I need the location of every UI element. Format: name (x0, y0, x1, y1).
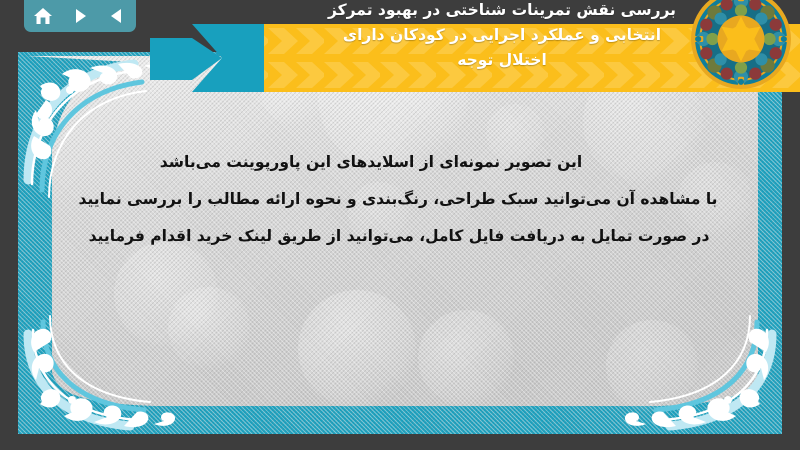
mandala-medallion-icon (690, 0, 792, 90)
previous-button[interactable] (104, 4, 130, 28)
navigation-bar[interactable] (24, 0, 136, 32)
ribbon-tail-shape (150, 24, 268, 92)
slide-canvas: این تصویر نمونه‌ای از اسلایدهای این پاور… (0, 0, 800, 450)
body-line-2: با مشاهده آن می‌توانید سبک طراحی، رنگ‌بن… (18, 181, 782, 218)
next-button[interactable] (67, 4, 93, 28)
corner-flourish-bottom-right (612, 314, 782, 434)
slide-body-text: این تصویر نمونه‌ای از اسلایدهای این پاور… (18, 144, 782, 255)
triangle-left-icon (108, 7, 126, 25)
bokeh-circle (298, 290, 416, 408)
content-panel: این تصویر نمونه‌ای از اسلایدهای این پاور… (18, 52, 782, 434)
panel-interior: این تصویر نمونه‌ای از اسلایدهای این پاور… (18, 52, 782, 434)
corner-flourish-bottom-left (18, 314, 188, 434)
home-button[interactable] (30, 4, 56, 28)
triangle-right-icon (71, 7, 89, 25)
home-icon (33, 7, 53, 26)
bokeh-circle (418, 310, 514, 406)
body-line-3: در صورت تمایل به دریافت فایل کامل، می‌تو… (18, 218, 782, 255)
body-line-1: این تصویر نمونه‌ای از اسلایدهای این پاور… (18, 144, 782, 181)
